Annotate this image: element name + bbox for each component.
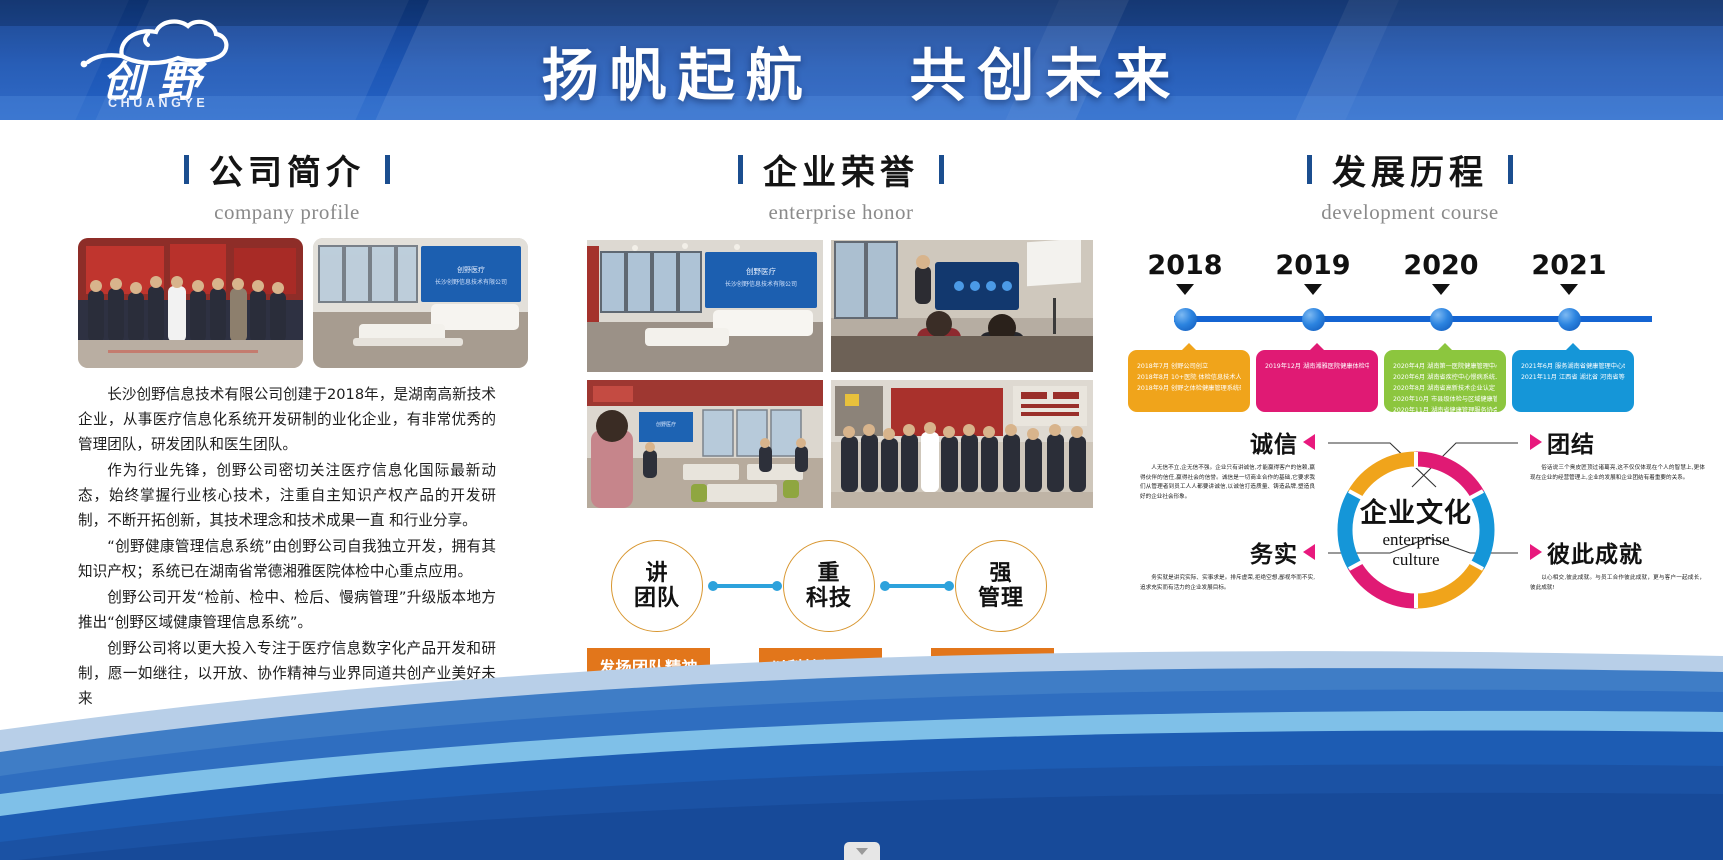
- timeline-year-2021: 2021: [1514, 250, 1624, 281]
- timeline-event-2021-1: 2021年6月 服务湖南省健康管理中心though 10家: [1521, 361, 1625, 372]
- office-reception-photo-graphic: 创野医疗 长沙创野信息技术有限公司: [313, 238, 528, 368]
- culture-center-en2: culture: [1392, 550, 1439, 570]
- timeline-node-2019: [1302, 308, 1325, 331]
- timeline-event-2020-4: 2020年10月 市县级体检与区域健康管理系统: [1393, 394, 1497, 405]
- culture-item-integrity-head: 诚信: [1140, 425, 1315, 459]
- card-notch-icon: [1564, 343, 1582, 352]
- arrow-right-icon: [1530, 434, 1542, 450]
- timeline-event-2021-2: 2021年11月 江西省 湖北省 河南省等医院已有实施应用系统: [1521, 372, 1625, 383]
- honor-heading-cn: 企业荣誉: [763, 145, 919, 194]
- timeline-event-2020-2: 2020年6月 湖南省疾控中心慢病系统上线: [1393, 372, 1497, 383]
- section-heading-profile: 公司简介 company profile: [78, 145, 496, 225]
- timeline-event-2018-3: 2018年9月 创野之体检健康管理系统研发: [1137, 383, 1241, 394]
- profile-photo-reception: 创野医疗 长沙创野信息技术有限公司: [313, 238, 528, 368]
- culture-item-unity-body: 俗话说三个臭皮匠顶过诸葛亮,这不仅仅体现在个人的智慧上,更体现在企业的经营管理上…: [1530, 464, 1705, 483]
- development-timeline: 2018 2019 2020 2021 2018年7月 创野公司创立 2018年…: [1150, 250, 1690, 410]
- card-notch-icon: [1436, 343, 1454, 352]
- svg-text:长沙创野信息技术有限公司: 长沙创野信息技术有限公司: [435, 278, 507, 286]
- timeline-year-2018: 2018: [1130, 250, 1240, 281]
- card-notch-icon: [1180, 343, 1198, 352]
- course-heading-cn: 发展历程: [1332, 145, 1488, 194]
- culture-center-cn: 企业文化: [1360, 491, 1472, 530]
- timeline-event-2020-3: 2020年8月 湖南省高新技术企业认定: [1393, 383, 1497, 394]
- office-lounge-photo-graphic: 创野医疗 长沙创野信息技术有限公司: [587, 240, 823, 372]
- honor-photo-4: [831, 380, 1093, 508]
- training-presentation-photo-graphic: [831, 240, 1093, 372]
- honor-photo-2: [831, 240, 1093, 372]
- honor-heading-en: enterprise honor: [587, 200, 1095, 225]
- section-heading-honor: 企业荣誉 enterprise honor: [587, 145, 1095, 225]
- timeline-caret-2020: [1432, 284, 1450, 295]
- tick-left-icon: [184, 155, 189, 184]
- profile-paragraph-3: “创野健康管理信息系统”由创野公司自我独立开发，拥有其知识产权；系统已在湖南省常…: [78, 534, 496, 584]
- timeline-event-2019-1: 2019年12月 湖南湘雅医院健康体检中心上线: [1265, 361, 1369, 372]
- culture-item-unity-head: 团结: [1530, 425, 1705, 459]
- profile-photo-strip: 创野医疗 长沙创野信息技术有限公司: [78, 238, 528, 368]
- scroll-down-hint[interactable]: [844, 842, 880, 860]
- timeline-event-2018-2: 2018年8月 10+医院 体检信息技术人员培训: [1137, 372, 1241, 383]
- svg-text:创野医疗: 创野医疗: [746, 266, 776, 276]
- profile-heading-cn: 公司简介: [209, 145, 365, 194]
- card-notch-icon: [1308, 343, 1326, 352]
- timeline-node-2020: [1430, 308, 1453, 331]
- arrow-right-icon: [1530, 544, 1542, 560]
- profile-heading-cn-wrap: 公司简介: [78, 145, 496, 194]
- timeline-card-2019: 2019年12月 湖南湘雅医院健康体检中心上线: [1256, 350, 1378, 412]
- honor-photo-3: 创野医疗: [587, 380, 823, 508]
- svg-text:创野医疗: 创野医疗: [457, 265, 485, 274]
- honor-heading-cn-wrap: 企业荣誉: [587, 145, 1095, 194]
- company-culture-poster: 创野 CHUANGYE 扬帆起航 共创未来 公司简介 company profi…: [0, 0, 1723, 860]
- profile-paragraph-2: 作为行业先锋，创野公司密切关注医疗信息化国际最新动态，始终掌握行业核心技术，注重…: [78, 458, 496, 533]
- timeline-caret-2019: [1304, 284, 1322, 295]
- banner-title: 扬帆起航 共创未来: [0, 30, 1723, 112]
- section-heading-course: 发展历程 development course: [1150, 145, 1670, 225]
- tick-right-icon: [385, 155, 390, 184]
- timeline-card-2018: 2018年7月 创野公司创立 2018年8月 10+医院 体检信息技术人员培训 …: [1128, 350, 1250, 412]
- culture-item-unity: 团结 俗话说三个臭皮匠顶过诸葛亮,这不仅仅体现在个人的智慧上,更体现在企业的经营…: [1530, 425, 1705, 483]
- culture-item-unity-title: 团结: [1547, 425, 1595, 459]
- honor-photo-1: 创野医疗 长沙创野信息技术有限公司: [587, 240, 823, 372]
- timeline-card-2020: 2020年4月 湖南第一医院健康管理中心推广 2020年6月 湖南省疾控中心慢病…: [1384, 350, 1506, 412]
- timeline-event-2020-5: 2020年11月 湖南省健康管理服务协会会员: [1393, 405, 1497, 416]
- profile-heading-en: company profile: [78, 200, 496, 225]
- course-heading-en: development course: [1150, 200, 1670, 225]
- arrow-left-icon: [1303, 434, 1315, 450]
- footer-wave-decoration: [0, 580, 1723, 860]
- timeline-caret-2021: [1560, 284, 1578, 295]
- profile-paragraph-1: 长沙创野信息技术有限公司创建于2018年，是湖南高新技术企业，从事医疗信息化系统…: [78, 382, 496, 457]
- culture-item-pragmatism-head: 务实: [1140, 535, 1315, 569]
- tick-right-icon: [939, 155, 944, 184]
- culture-item-integrity-body: 人无信不立,企无信不强。企业只有讲诚信,才能赢得客户的信赖,赢得伙伴的信任,赢得…: [1140, 464, 1315, 502]
- open-office-workspace-photo-graphic: 创野医疗: [587, 380, 823, 508]
- timeline-event-2018-1: 2018年7月 创野公司创立: [1137, 361, 1241, 372]
- culture-item-integrity-title: 诚信: [1250, 425, 1298, 459]
- banner-title-part2: 共创未来: [909, 43, 1181, 109]
- timeline-event-2020-1: 2020年4月 湖南第一医院健康管理中心推广: [1393, 361, 1497, 372]
- timeline-year-2019: 2019: [1258, 250, 1368, 281]
- timeline-node-2018: [1174, 308, 1197, 331]
- tick-left-icon: [738, 155, 743, 184]
- arrow-left-icon: [1303, 544, 1315, 560]
- chevron-down-icon: [856, 848, 868, 855]
- timeline-caret-2018: [1176, 284, 1194, 295]
- timeline-card-2021: 2021年6月 服务湖南省健康管理中心though 10家 2021年11月 江…: [1512, 350, 1634, 412]
- hospital-group-photo-graphic: [831, 380, 1093, 508]
- tick-right-icon: [1508, 155, 1513, 184]
- banner-title-part1: 扬帆起航: [542, 43, 814, 109]
- course-heading-cn-wrap: 发展历程: [1150, 145, 1670, 194]
- timeline-year-2020: 2020: [1386, 250, 1496, 281]
- culture-item-mutual-achievement-head: 彼此成就: [1530, 535, 1705, 569]
- culture-item-pragmatism-title: 务实: [1250, 535, 1298, 569]
- tick-left-icon: [1307, 155, 1312, 184]
- culture-center-en1: enterprise: [1382, 530, 1449, 550]
- svg-text:创野医疗: 创野医疗: [656, 421, 676, 428]
- header-banner: 创野 CHUANGYE 扬帆起航 共创未来: [0, 0, 1723, 120]
- honor-photo-grid: 创野医疗 长沙创野信息技术有限公司: [587, 240, 1095, 508]
- svg-text:长沙创野信息技术有限公司: 长沙创野信息技术有限公司: [725, 280, 797, 288]
- culture-item-integrity: 诚信 人无信不立,企无信不强。企业只有讲诚信,才能赢得客户的信赖,赢得伙伴的信任…: [1140, 425, 1315, 502]
- profile-photo-team: [78, 238, 303, 368]
- culture-item-mutual-achievement-title: 彼此成就: [1547, 535, 1643, 569]
- timeline-node-2021: [1558, 308, 1581, 331]
- team-group-photo-graphic: [78, 238, 303, 368]
